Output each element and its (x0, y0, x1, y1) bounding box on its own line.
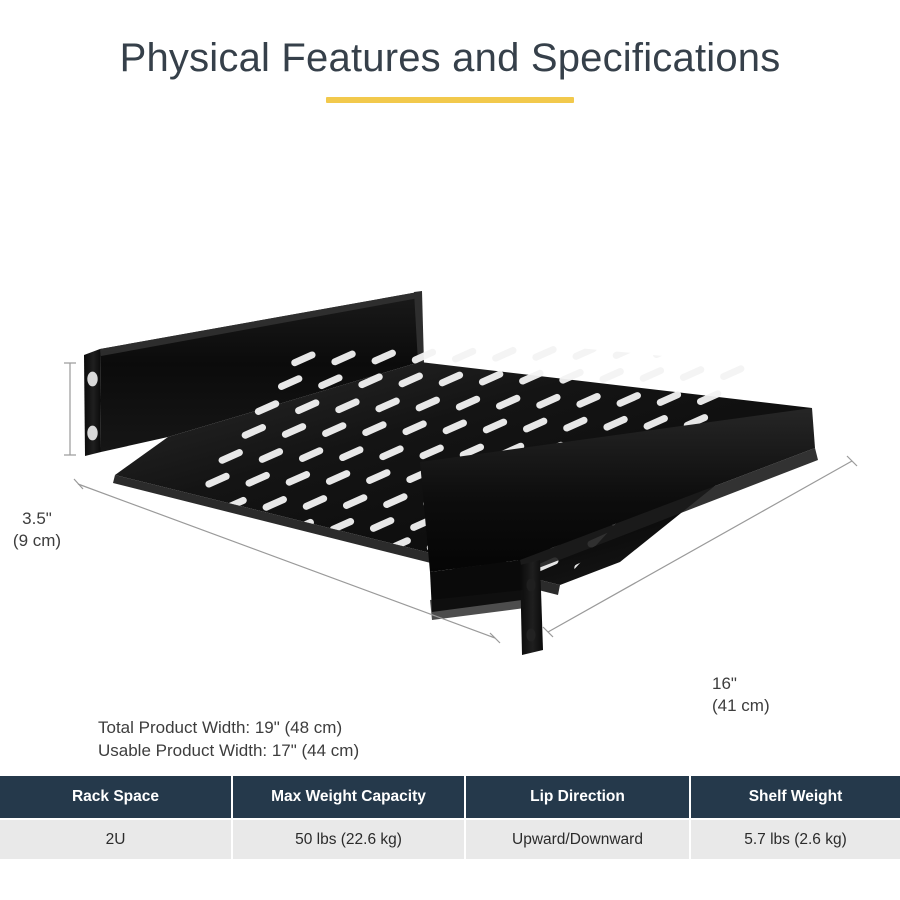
table-row: 2U 50 lbs (22.6 kg) Upward/Downward 5.7 … (0, 819, 900, 859)
left-mounting-ear (84, 349, 101, 456)
cell-max-weight: 50 lbs (22.6 kg) (232, 819, 465, 859)
height-dimension-label: 3.5" (9 cm) (6, 508, 68, 552)
width-dim-cap-left (74, 479, 83, 489)
depth-imperial: 16" (712, 673, 770, 695)
cell-rack-space: 2U (0, 819, 232, 859)
height-imperial: 3.5" (6, 508, 68, 530)
depth-dim-cap-upper (847, 456, 857, 466)
column-header-rack-space: Rack Space (0, 776, 232, 819)
column-header-max-weight: Max Weight Capacity (232, 776, 465, 819)
total-product-width: Total Product Width: 19" (48 cm) (98, 716, 359, 739)
width-dimension-label: Total Product Width: 19" (48 cm) Usable … (98, 716, 359, 762)
cell-lip-direction: Upward/Downward (465, 819, 690, 859)
rack-shelf-drawing (0, 130, 900, 760)
title-accent-rule (326, 97, 574, 103)
usable-product-width: Usable Product Width: 17" (44 cm) (98, 739, 359, 762)
width-dim-cap-right (490, 633, 500, 643)
depth-dimension-label: 16" (41 cm) (712, 673, 770, 717)
depth-dim-cap-lower (543, 627, 553, 637)
height-metric: (9 cm) (6, 530, 68, 552)
column-header-lip-direction: Lip Direction (465, 776, 690, 819)
page-title: Physical Features and Specifications (0, 30, 900, 86)
page-header: Physical Features and Specifications (0, 30, 900, 103)
page-root: Physical Features and Specifications (0, 0, 900, 900)
table-header-row: Rack Space Max Weight Capacity Lip Direc… (0, 776, 900, 819)
column-header-shelf-weight: Shelf Weight (690, 776, 900, 819)
cell-shelf-weight: 5.7 lbs (2.6 kg) (690, 819, 900, 859)
product-illustration: 3.5" (9 cm) 16" (41 cm) Total Product Wi… (0, 130, 900, 760)
specifications-table: Rack Space Max Weight Capacity Lip Direc… (0, 776, 900, 859)
depth-metric: (41 cm) (712, 695, 770, 717)
